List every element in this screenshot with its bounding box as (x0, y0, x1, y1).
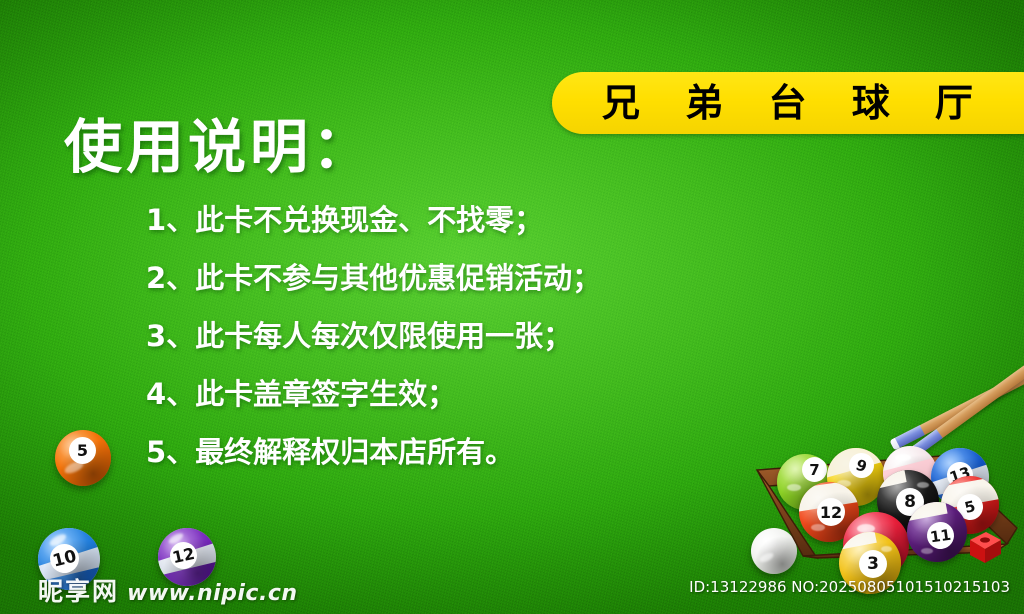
chalk-cube-icon (967, 528, 1003, 564)
rule-item: 5、最终解释权归本店所有。 (146, 438, 806, 467)
rule-item: 1、此卡不兑换现金、不找零； (146, 206, 806, 235)
rule-item: 3、此卡每人每次仅限使用一张； (146, 322, 806, 351)
rule-item: 2、此卡不参与其他优惠促销活动； (146, 264, 806, 293)
rule-item: 4、此卡盖章签字生效； (146, 380, 806, 409)
rules-list: 1、此卡不兑换现金、不找零； 2、此卡不参与其他优惠促销活动； 3、此卡每人每次… (146, 206, 806, 496)
ball-number: 12 (817, 498, 845, 526)
watermark-url: www.nipic.cn (127, 581, 298, 606)
watermark: 昵享网 www.nipic.cn (38, 572, 298, 608)
poster-canvas: 兄 弟 台 球 厅 使用说明： 1、此卡不兑换现金、不找零； 2、此卡不参与其他… (0, 0, 1024, 614)
billiard-ball-11-icon: 11 (907, 502, 967, 562)
title-banner: 兄 弟 台 球 厅 (552, 72, 1024, 134)
watermark-logo: 昵享网 (38, 572, 119, 608)
ball-number: 3 (859, 550, 887, 578)
ball-number: 7 (802, 457, 827, 482)
cue-stick-icon (890, 354, 1024, 450)
page-title: 使用说明： (64, 118, 374, 176)
image-id-line: ID:13122986 NO:20250805101510215103 (689, 578, 1010, 596)
billiard-ball-5-icon: 5 (55, 430, 111, 486)
shop-name: 兄 弟 台 球 厅 (602, 84, 989, 122)
ball-number: 5 (69, 437, 96, 464)
